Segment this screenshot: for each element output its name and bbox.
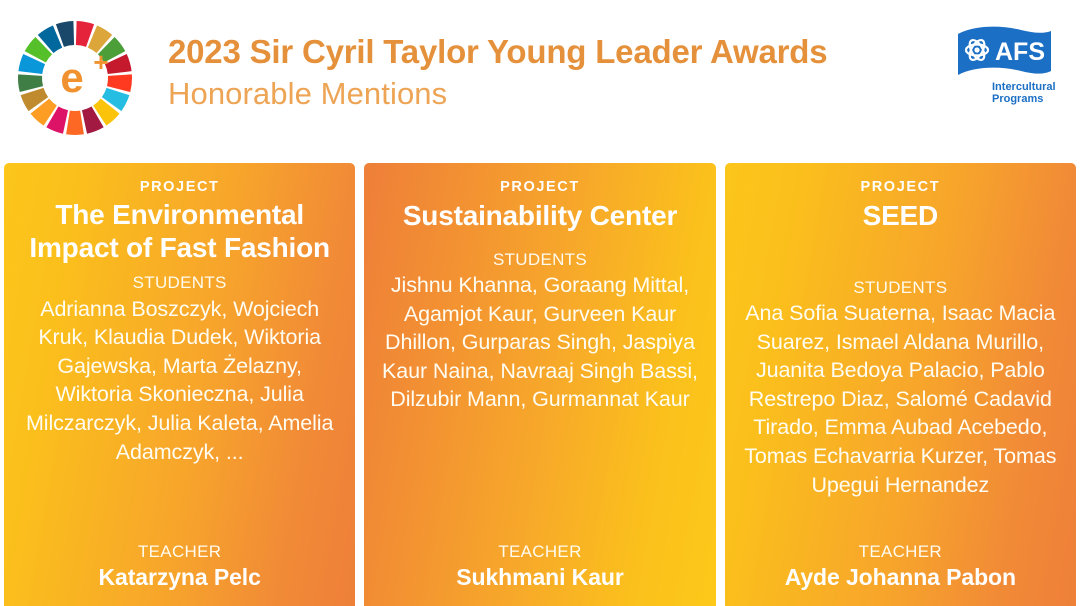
sdg-wheel-logo: e + (16, 19, 134, 137)
afs-tagline-line2: Programs (992, 93, 1043, 105)
teacher-label: TEACHER (498, 541, 581, 562)
sdg-logo-e: e (60, 54, 83, 101)
afs-logo: AFS Intercultural Programs (955, 24, 1055, 110)
teacher-name: Sukhmani Kaur (456, 563, 623, 592)
students-label: STUDENTS (133, 272, 227, 293)
project-label: PROJECT (860, 179, 940, 196)
project-title: Sustainability Center (403, 200, 677, 232)
sdg-logo-plus: + (93, 47, 108, 77)
teacher-label: TEACHER (859, 541, 942, 562)
students-label: STUDENTS (853, 277, 947, 298)
project-title: The Environmental Impact of Fast Fashion (18, 199, 341, 264)
teacher-name: Katarzyna Pelc (99, 563, 261, 592)
project-label: PROJECT (140, 179, 220, 196)
page-title: 2023 Sir Cyril Taylor Young Leader Award… (168, 34, 928, 71)
afs-tagline-line1: Intercultural (992, 81, 1055, 93)
project-cards: PROJECT The Environmental Impact of Fast… (0, 163, 1080, 606)
slide-header: e + 2023 Sir Cyril Taylor Young Leader A… (0, 0, 1080, 157)
project-card[interactable]: PROJECT The Environmental Impact of Fast… (4, 163, 355, 606)
project-card[interactable]: PROJECT Sustainability Center STUDENTS J… (364, 163, 715, 606)
students-list: Adrianna Boszczyk, Wojciech Kruk, Klaudi… (18, 295, 341, 467)
awards-slide: e + 2023 Sir Cyril Taylor Young Leader A… (0, 0, 1080, 606)
teacher-name: Ayde Johanna Pabon (785, 563, 1016, 592)
project-card[interactable]: PROJECT SEED STUDENTS Ana Sofia Suaterna… (725, 163, 1076, 606)
afs-brand-text: AFS (995, 38, 1045, 66)
page-subtitle: Honorable Mentions (168, 75, 928, 112)
students-list: Ana Sofia Suaterna, Isaac Macia Suarez, … (739, 299, 1062, 499)
teacher-label: TEACHER (138, 541, 221, 562)
students-list: Jishnu Khanna, Goraang Mittal, Agamjot K… (378, 271, 701, 414)
students-label: STUDENTS (493, 249, 587, 270)
project-label: PROJECT (500, 179, 580, 196)
title-block: 2023 Sir Cyril Taylor Young Leader Award… (168, 34, 928, 112)
project-title: SEED (863, 200, 938, 232)
